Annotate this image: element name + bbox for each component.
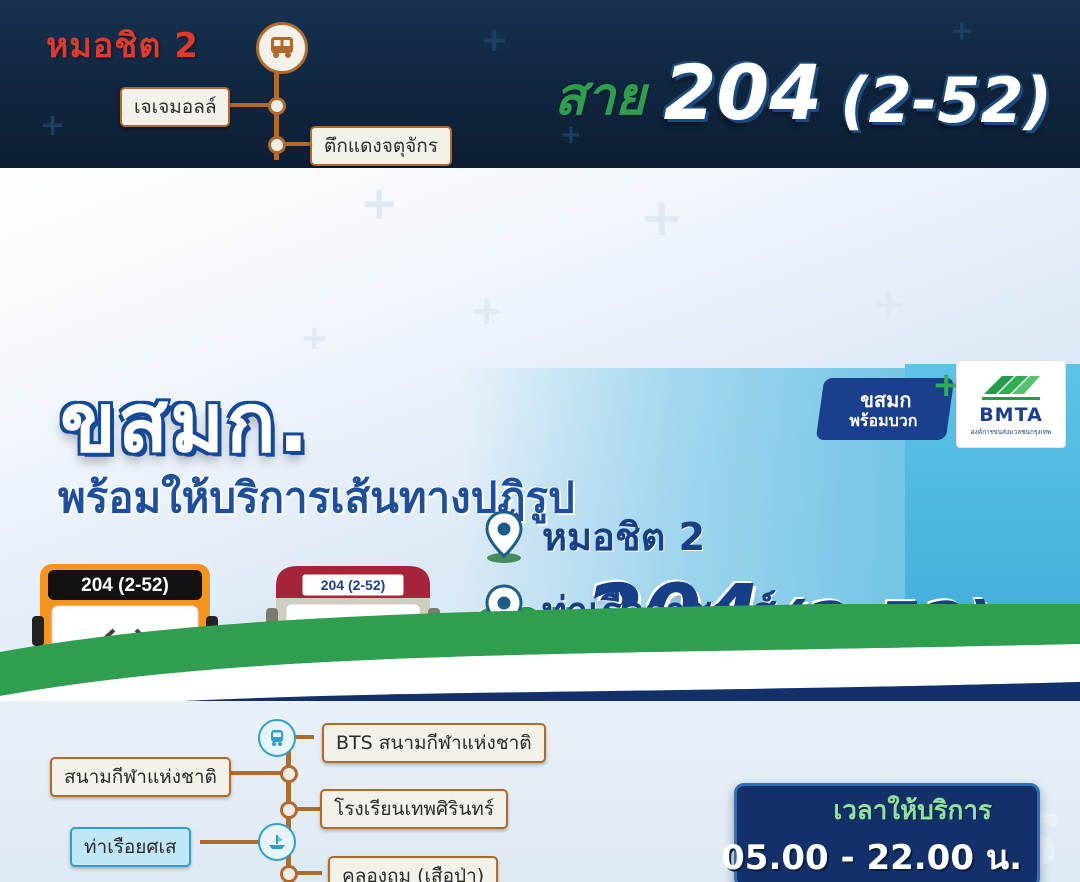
stop-pill: ท่าเรือยศเส [70, 827, 191, 867]
stop-pill: สนามกีฬาแห่งชาติ [50, 757, 231, 797]
route-node [280, 801, 298, 819]
origin-stop-label: หมอชิต 2 [46, 18, 199, 72]
route-number: 204 [664, 48, 823, 137]
bmta-logo-sub: องค์การขนส่งมวลชนกรุงเทพ [971, 427, 1052, 437]
infographic-root: + + + + หมอชิต 2 เจเจมอลล์ ตึกแดงจตุจักร… [0, 0, 1080, 882]
top-route-strip: + + + + หมอชิต 2 เจเจมอลล์ ตึกแดงจตุจักร… [0, 0, 1080, 168]
stop-pill: คลองถม (เสือป่า) [328, 856, 498, 882]
decorative-swoosh [0, 604, 1080, 714]
bts-train-icon [258, 719, 296, 757]
service-hours-time: 05.00 - 22.00 น. [721, 830, 1022, 882]
service-hours-title: เวลาให้บริการ [833, 790, 992, 831]
stop-pill: โรงเรียนเทพศิรินทร์ [320, 789, 508, 829]
route-node [280, 865, 298, 882]
bus-icon [256, 22, 308, 74]
decor-plus-icon: + [40, 108, 65, 143]
route-number-alt: (2-52) [840, 64, 1052, 137]
endpoint-origin: หมอชิต 2 [482, 506, 705, 567]
route-node [280, 765, 298, 783]
decor-plus-icon: + [300, 318, 329, 358]
svg-text:204 (2-52): 204 (2-52) [321, 577, 386, 593]
stop-pill: ตึกแดงจตุจักร [310, 126, 452, 166]
svg-text:204 (2-52): 204 (2-52) [81, 575, 169, 596]
plus-icon: + [932, 372, 958, 398]
route-node [268, 136, 286, 154]
stop-pill: เจเจมอลล์ [120, 87, 230, 127]
route-prefix: สาย [554, 54, 645, 137]
location-pin-icon [482, 510, 526, 564]
decor-plus-icon: + [480, 20, 509, 60]
top-route-number: สาย 204 (2-52) [554, 48, 1052, 137]
endpoint-label: หมอชิต 2 [542, 506, 705, 567]
bmta-logo: BMTA องค์การขนส่งมวลชนกรุงเทพ [956, 360, 1066, 448]
bmta-mark-icon [980, 372, 1042, 402]
stop-pill: BTS สนามกีฬาแห่งชาติ [322, 723, 546, 763]
bmta-logo-name: BMTA [979, 404, 1043, 426]
decor-plus-icon: + [360, 176, 399, 230]
khsmk-logo-line1: ขสมก [861, 390, 912, 410]
decor-plus-icon: + [640, 188, 684, 248]
decor-plus-icon: + [950, 14, 973, 47]
route-node [268, 97, 286, 115]
decor-plus-icon: + [470, 288, 504, 334]
khsmk-logo-line2: พร้อมบวก [849, 413, 917, 429]
boat-pier-icon [258, 823, 296, 861]
decor-plus-icon: + [870, 278, 907, 329]
